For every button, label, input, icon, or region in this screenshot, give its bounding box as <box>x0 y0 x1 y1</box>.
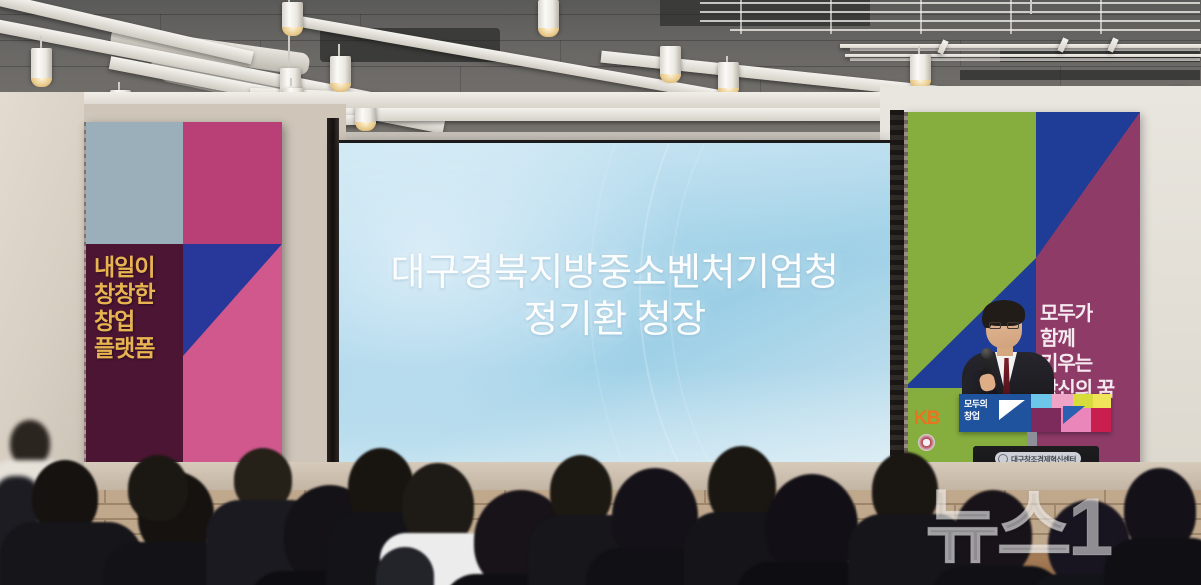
banner-left-line-3: 창업 <box>94 308 186 335</box>
audience-member <box>128 455 198 515</box>
screen-glare <box>339 143 890 263</box>
banner-right-edge <box>904 112 908 490</box>
slide-title-line-1: 대구경북지방중소벤처기업청 <box>339 250 890 297</box>
projection-screen: 대구경북지방중소벤처기업청 정기환 청장 <box>339 143 890 475</box>
seal-icon <box>918 434 935 451</box>
podium-sign-line-2: 창업 <box>964 410 987 422</box>
projection-screen-frame: 대구경북지방중소벤처기업청 정기환 청장 <box>339 140 890 478</box>
news-photo: 내일이 창창한 창업 플랫폼 대구경북지방중소벤처기업청 정기환 청장 <box>0 0 1201 585</box>
watermark: 뉴스1 <box>925 478 1193 578</box>
podium-accent-triangle-icon <box>1063 406 1085 424</box>
podium-color-block <box>1091 408 1111 432</box>
banner-left-slogan: 내일이 창창한 창업 플랫폼 <box>94 254 186 362</box>
banner-left-line-1: 내일이 <box>94 254 186 281</box>
banner-right-block-green-top <box>904 112 1036 258</box>
glasses-icon <box>1007 322 1019 329</box>
podium-color-block <box>1093 394 1111 408</box>
glasses-icon <box>989 322 1001 329</box>
banner-right-line-1: 모두가 <box>1040 302 1140 327</box>
podium-sign: 모두의 창업 <box>959 394 1111 432</box>
podium-color-block <box>1031 408 1061 432</box>
banner-left-line-4: 플랫폼 <box>94 335 186 362</box>
podium-sign-triangle-icon <box>999 400 1025 420</box>
banner-right-slogan: 모두가 함께 키우는 당신의 꿈 <box>1040 302 1140 403</box>
podium-stem <box>1027 432 1037 446</box>
banner-right-line-3: 키우는 <box>1040 352 1140 377</box>
banner-left-edge <box>84 122 86 462</box>
banner-left-triangle <box>183 244 282 356</box>
banner-left-line-2: 창창한 <box>94 281 186 308</box>
sponsor-logo-text: KB <box>914 408 939 430</box>
slide-title: 대구경북지방중소벤처기업청 정기환 청장 <box>339 250 890 343</box>
podium-color-block <box>1031 394 1052 408</box>
banner-left: 내일이 창창한 창업 플랫폼 <box>84 122 282 462</box>
wall-gap-strip <box>327 118 339 478</box>
banner-right-line-2: 함께 <box>1040 327 1140 352</box>
slide-title-line-2: 정기환 청장 <box>339 297 890 344</box>
podium-sign-text: 모두의 창업 <box>964 398 987 422</box>
banner-left-block-top-right <box>183 122 282 244</box>
podium-sign-line-1: 모두의 <box>964 398 987 410</box>
banner-right-triangle-top <box>1036 112 1140 258</box>
screen-right-edge <box>890 110 904 510</box>
banner-left-block-top-left <box>84 122 183 244</box>
